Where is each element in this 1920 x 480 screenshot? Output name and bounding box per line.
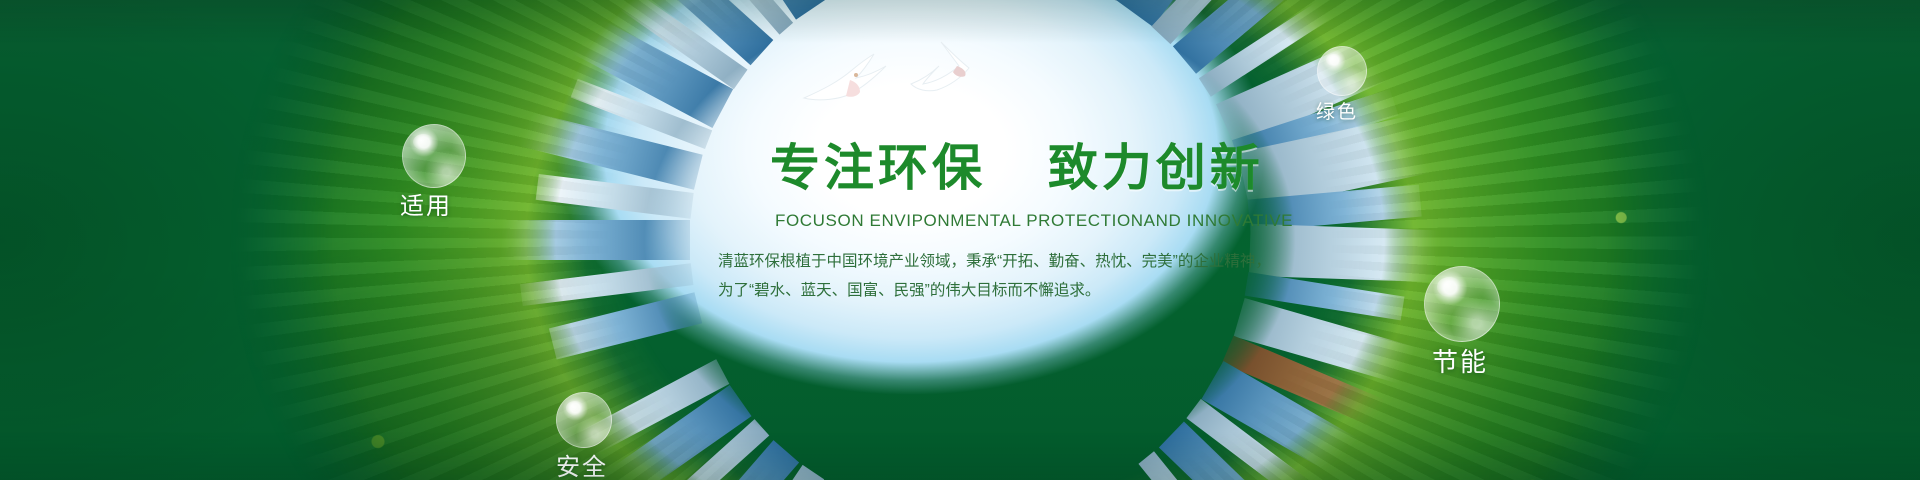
headline-part-2: 致力创新: [1048, 140, 1264, 196]
banner-paragraph: 清蓝环保根植于中国环境产业领域，秉承“开拓、勤奋、热忱、完美”的企业精神， 为了…: [718, 247, 1278, 305]
headline-part-1: 专注环保: [770, 140, 986, 196]
paragraph-line-1: 清蓝环保根植于中国环境产业领域，秉承“开拓、勤奋、热忱、完美”的企业精神，: [718, 247, 1278, 276]
page-title: 专注环保 致力创新: [770, 128, 1264, 200]
hero-banner: 适用 安全 绿色 节能 专注环保 致力创新 FOCUSON ENVIPONMEN…: [0, 0, 1920, 480]
page-subtitle: FOCUSON ENVIPONMENTAL PROTECTIONAND INNO…: [775, 211, 1293, 231]
banner-copy: 专注环保 致力创新 FOCUSON ENVIPONMENTAL PROTECTI…: [0, 0, 1920, 480]
paragraph-line-2: 为了“碧水、蓝天、国富、民强”的伟大目标而不懈追求。: [718, 276, 1278, 305]
